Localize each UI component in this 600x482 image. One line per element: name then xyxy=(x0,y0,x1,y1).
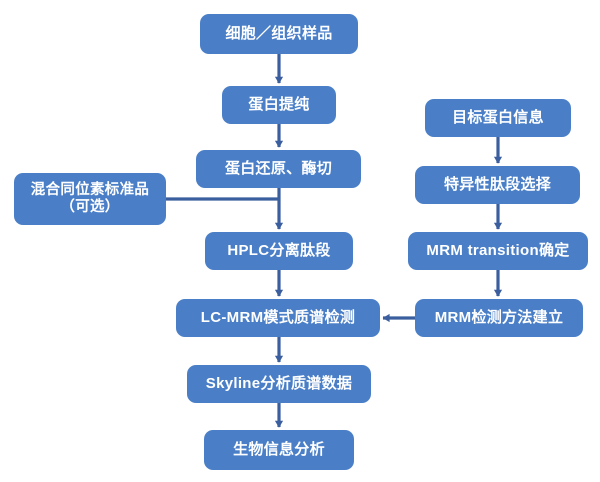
node-bioinformatics-analysis-label: 生物信息分析 xyxy=(208,441,350,459)
node-sample-label: 细胞／组织样品 xyxy=(204,25,354,43)
node-lc-mrm-ms-detection-label: LC-MRM模式质谱检测 xyxy=(180,309,376,327)
node-isotope-standard-optional-label: 混合同位素标准品 （可选） xyxy=(18,182,162,217)
node-mrm-transition-determination-label: MRM transition确定 xyxy=(412,242,584,260)
node-protein-reduction-digestion-label: 蛋白还原、酶切 xyxy=(200,160,357,178)
node-target-protein-info-label: 目标蛋白信息 xyxy=(429,109,567,127)
node-skyline-analysis[interactable]: Skyline分析质谱数据 xyxy=(187,365,371,403)
node-isotope-standard-optional[interactable]: 混合同位素标准品 （可选） xyxy=(14,173,166,225)
node-target-protein-info[interactable]: 目标蛋白信息 xyxy=(425,99,571,137)
node-skyline-analysis-label: Skyline分析质谱数据 xyxy=(191,375,367,393)
node-mrm-method-establishment[interactable]: MRM检测方法建立 xyxy=(415,299,583,337)
node-hplc-peptide-separation-label: HPLC分离肽段 xyxy=(209,242,349,260)
node-mrm-method-establishment-label: MRM检测方法建立 xyxy=(419,309,579,327)
node-protein-purification-label: 蛋白提纯 xyxy=(226,96,332,114)
node-hplc-peptide-separation[interactable]: HPLC分离肽段 xyxy=(205,232,353,270)
node-bioinformatics-analysis[interactable]: 生物信息分析 xyxy=(204,430,354,470)
node-specific-peptide-selection[interactable]: 特异性肽段选择 xyxy=(415,166,580,204)
node-sample[interactable]: 细胞／组织样品 xyxy=(200,14,358,54)
node-specific-peptide-selection-label: 特异性肽段选择 xyxy=(419,176,576,194)
node-protein-reduction-digestion[interactable]: 蛋白还原、酶切 xyxy=(196,150,361,188)
node-mrm-transition-determination[interactable]: MRM transition确定 xyxy=(408,232,588,270)
flowchart-canvas: 细胞／组织样品 蛋白提纯 蛋白还原、酶切 混合同位素标准品 （可选） HPLC分… xyxy=(0,0,600,482)
node-lc-mrm-ms-detection[interactable]: LC-MRM模式质谱检测 xyxy=(176,299,380,337)
node-protein-purification[interactable]: 蛋白提纯 xyxy=(222,86,336,124)
